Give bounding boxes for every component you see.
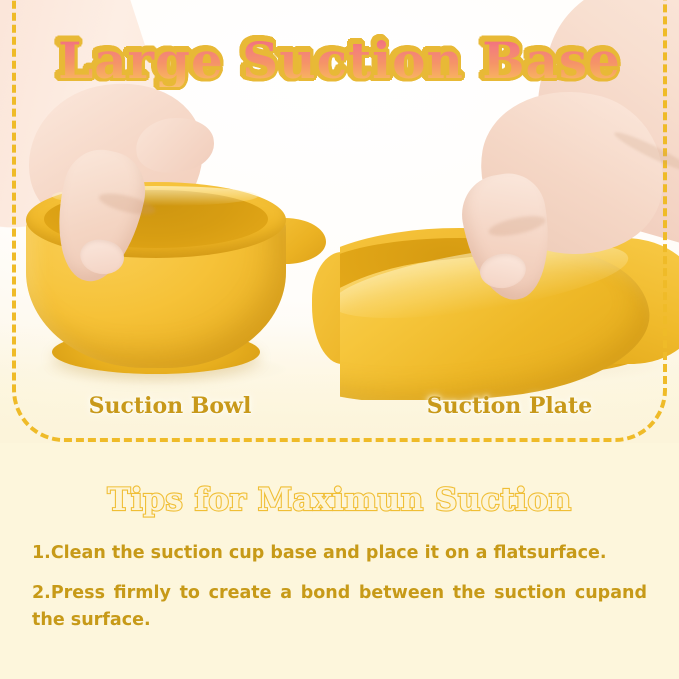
tip-item-1: 1.Clean the suction cup base and place i… xyxy=(32,540,647,566)
product-label-suction-plate: Suction Plate xyxy=(340,393,679,419)
product-labels: Suction Bowl Suction Plate xyxy=(0,393,679,429)
page-title-container: Large Suction Base xyxy=(0,34,679,87)
product-label-suction-bowl: Suction Bowl xyxy=(0,393,340,419)
plate-edge-sliver xyxy=(312,252,340,364)
infographic-page: Large Suction Base Suction Bowl Suction … xyxy=(0,0,679,679)
tips-heading: Tips for Maximun Suction xyxy=(107,482,571,518)
tip-item-2: 2.Press firmly to create a bond between … xyxy=(32,580,647,633)
tips-section: Tips for Maximun Suction 1.Clean the suc… xyxy=(0,443,679,679)
tips-list: 1.Clean the suction cup base and place i… xyxy=(32,540,647,633)
page-title: Large Suction Base xyxy=(58,34,621,87)
tips-heading-container: Tips for Maximun Suction xyxy=(0,482,679,518)
product-photo-panel: Large Suction Base Suction Bowl Suction … xyxy=(0,0,679,443)
